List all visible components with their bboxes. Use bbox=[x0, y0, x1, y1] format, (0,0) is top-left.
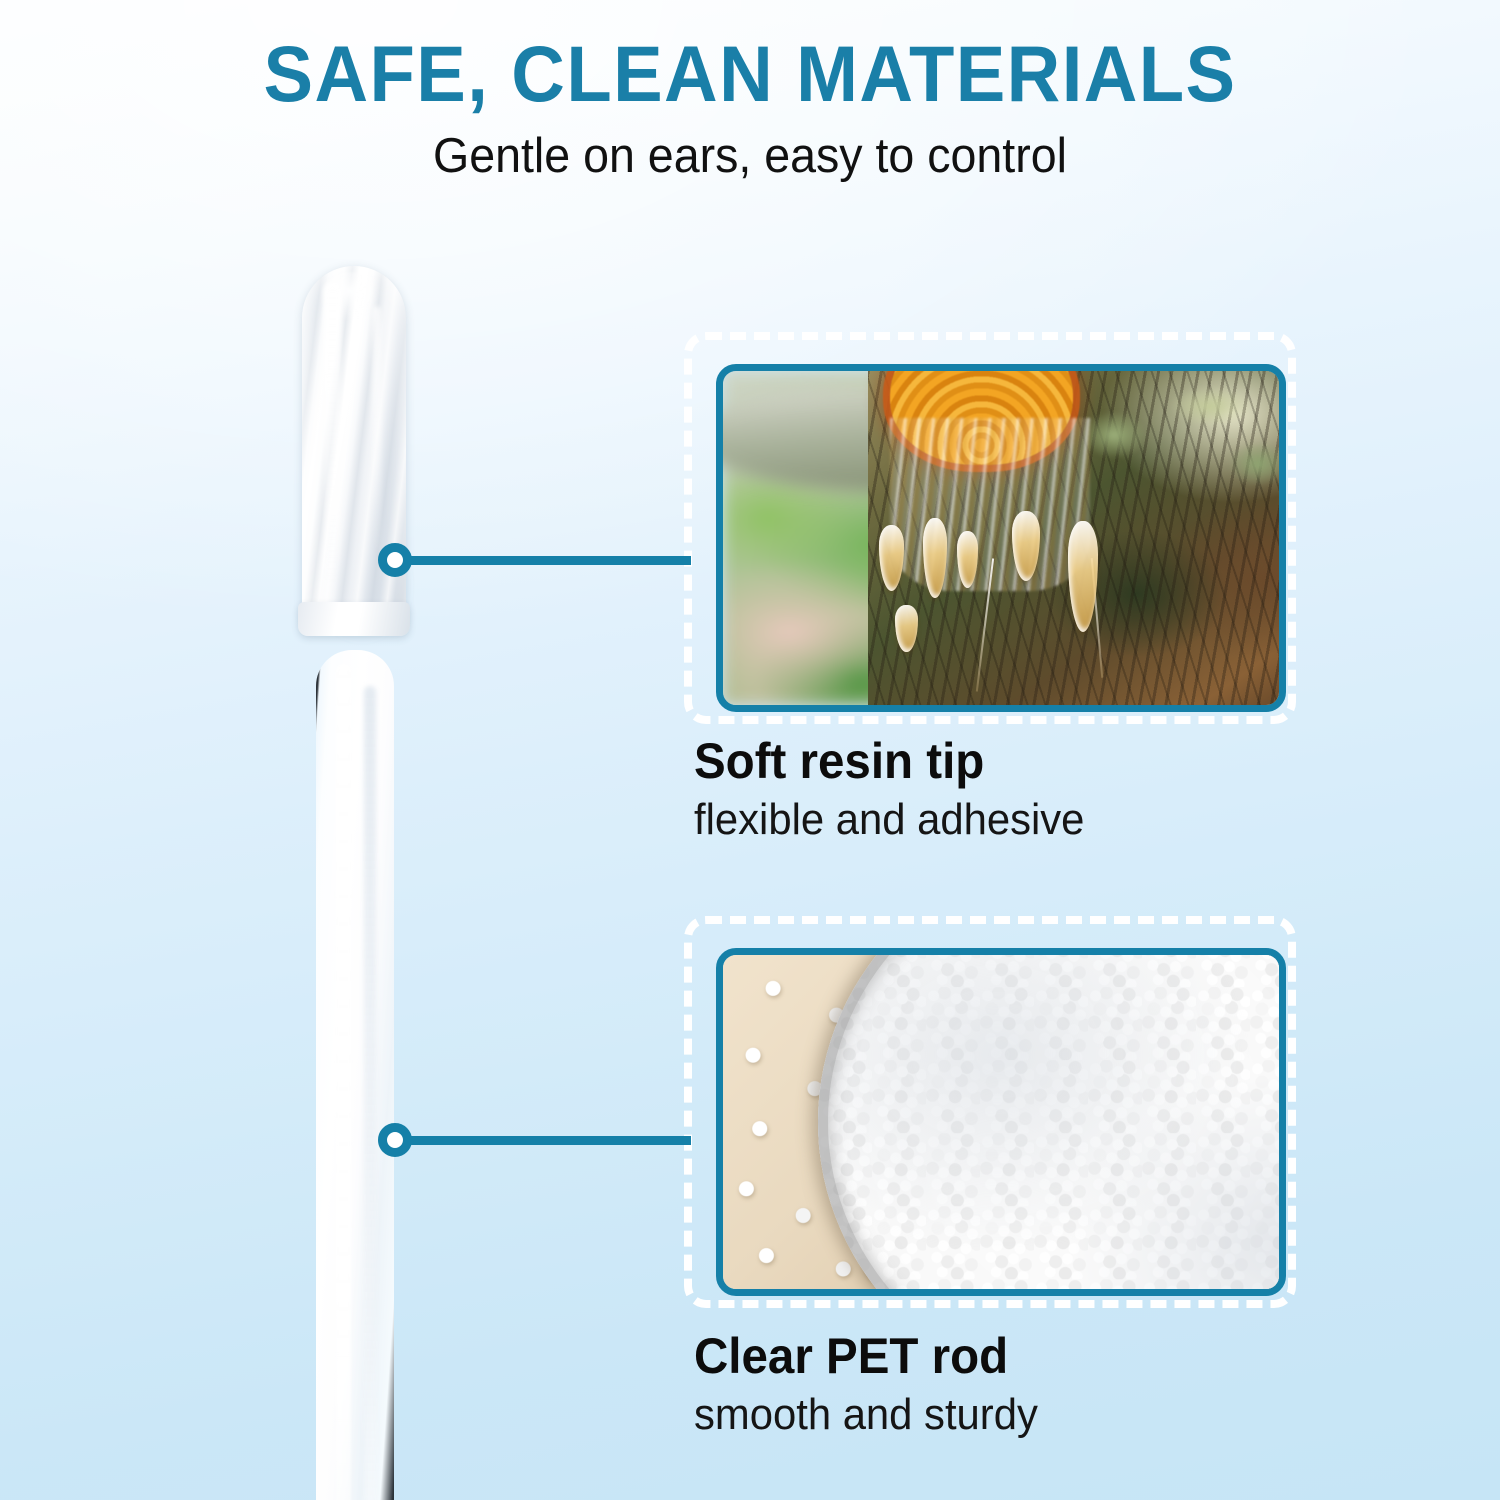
dashed-frame bbox=[684, 332, 1296, 724]
header: SAFE, CLEAN MATERIALS Gentle on ears, ea… bbox=[0, 34, 1500, 182]
connector-dot-pet-rod bbox=[378, 1123, 412, 1157]
caption-subtitle: smooth and sturdy bbox=[694, 1391, 1038, 1439]
tip-skirt bbox=[298, 602, 410, 636]
tip-gloss-primary bbox=[324, 282, 341, 582]
rod-highlight bbox=[336, 664, 351, 1500]
product-infographic: SAFE, CLEAN MATERIALS Gentle on ears, ea… bbox=[0, 0, 1500, 1500]
dashed-frame bbox=[684, 916, 1296, 1308]
rod-soft-highlight bbox=[364, 686, 376, 1500]
page-subtitle: Gentle on ears, easy to control bbox=[38, 131, 1463, 182]
photo-frame bbox=[716, 364, 1286, 712]
photo-tree-resin bbox=[723, 371, 1279, 705]
callout-soft-resin-tip bbox=[684, 332, 1296, 724]
page-title: SAFE, CLEAN MATERIALS bbox=[45, 34, 1455, 115]
callout-clear-pet-rod bbox=[684, 916, 1296, 1308]
photo-pet-pellets bbox=[723, 955, 1279, 1289]
connector-segment bbox=[395, 1136, 691, 1145]
caption-subtitle: flexible and adhesive bbox=[694, 796, 1084, 844]
caption-clear-pet-rod: Clear PET rod smooth and sturdy bbox=[694, 1330, 1056, 1439]
product-image bbox=[292, 266, 432, 1500]
bowl-rim bbox=[818, 955, 1279, 1289]
pet-rod bbox=[316, 650, 394, 1500]
tip-gloss-secondary bbox=[372, 306, 381, 556]
caption-soft-resin-tip: Soft resin tip flexible and adhesive bbox=[694, 735, 1105, 844]
connector-segment bbox=[395, 556, 691, 565]
caption-title: Soft resin tip bbox=[694, 735, 1084, 788]
sap-sheet bbox=[890, 418, 1090, 592]
connector-dot-resin-tip bbox=[378, 543, 412, 577]
photo-frame bbox=[716, 948, 1286, 1296]
caption-title: Clear PET rod bbox=[694, 1330, 1038, 1383]
